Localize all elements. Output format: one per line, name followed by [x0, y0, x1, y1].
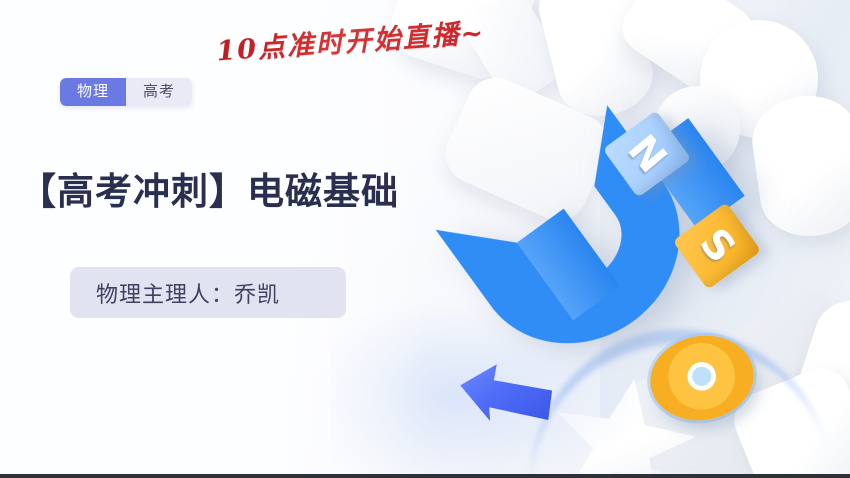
background-left-fade [0, 0, 430, 478]
u-magnet-leg-left [517, 209, 620, 321]
course-cover-card: N S 10点准时开始直播~ 物理 高考 【高考冲刺】电磁基础 物理主理人：乔凯 [0, 0, 850, 478]
magnet-south-pole-label: S [690, 220, 744, 272]
tag-exam[interactable]: 高考 [126, 78, 192, 106]
bottom-edge-bar [0, 474, 850, 478]
tag-subject[interactable]: 物理 [60, 78, 126, 106]
magnet-north-pole-label: N [619, 126, 676, 181]
teacher-info-box: 物理主理人：乔凯 [70, 267, 346, 318]
tag-group: 物理 高考 [60, 78, 192, 106]
course-title: 【高考冲刺】电磁基础 [19, 161, 399, 215]
teacher-info-label: 物理主理人：乔凯 [96, 277, 280, 309]
